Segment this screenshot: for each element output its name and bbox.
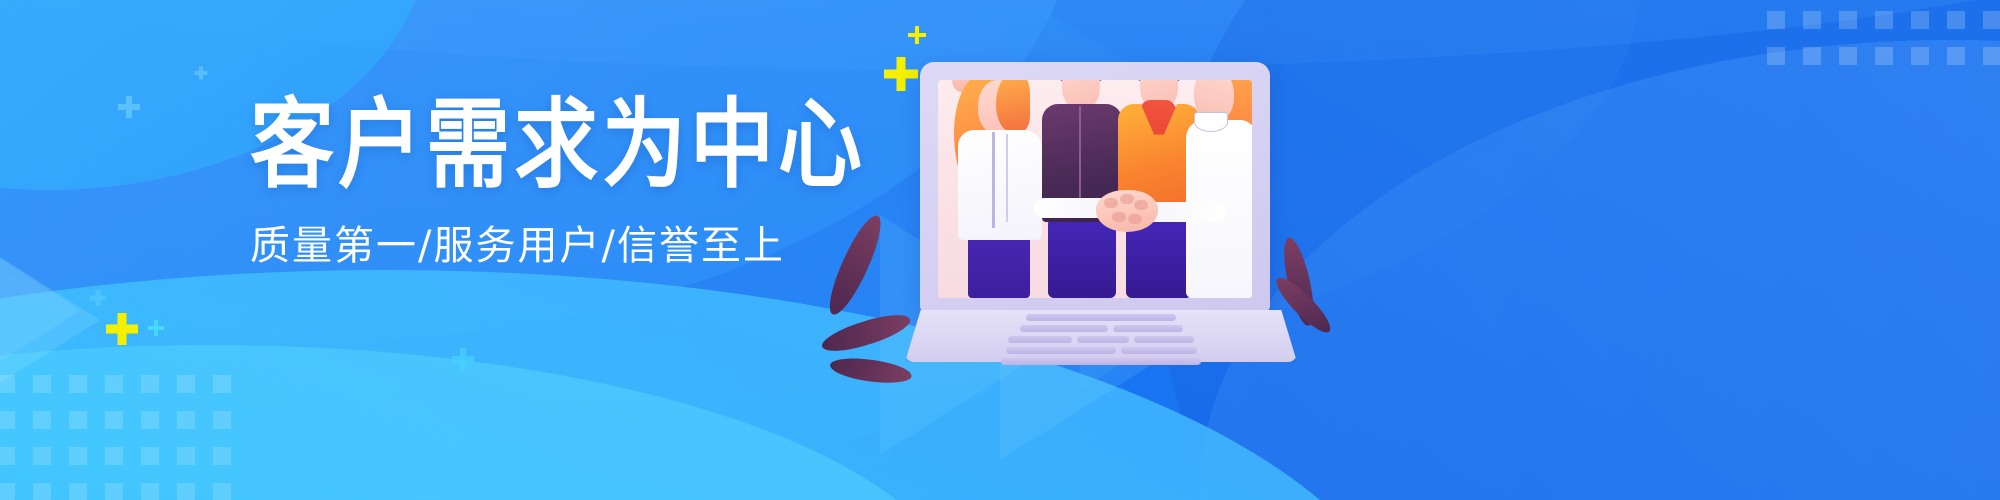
knuckle-4 [1112, 212, 1126, 222]
plus-sparkle-yellow-bottom-left [106, 313, 138, 345]
background-wave-bottom-inner [0, 345, 960, 500]
person-woman-white-blazer [952, 80, 1048, 298]
collar [1194, 112, 1228, 132]
laptop-screen [938, 80, 1252, 298]
person-man-dark-shirt [1038, 80, 1126, 298]
leaf-cluster-right [1277, 238, 1387, 368]
plus-sparkle-yellow-small [908, 26, 926, 44]
plus-sparkle-cyan-faint-upper [118, 96, 140, 118]
background-chevron-left-1 [0, 160, 80, 460]
plus-sparkle-cyan-above-laptop [90, 290, 106, 306]
leaf-3 [829, 356, 913, 385]
legs [1048, 218, 1116, 298]
banner-copy: 客户需求为中心 质量第一/服务用户/信誉至上 [250, 96, 870, 266]
knuckle-5 [1128, 214, 1142, 224]
background-top-strip [0, 0, 2000, 70]
laptop-illustration [905, 62, 1325, 362]
laptop-lid [920, 62, 1270, 312]
knuckle-1 [1104, 198, 1118, 208]
plus-sparkle-cyan-mid-lower [452, 348, 474, 370]
leaf-1 [823, 210, 888, 320]
knuckle-2 [1120, 194, 1134, 204]
plus-sparkle-cyan-tiny-upper [194, 66, 207, 79]
blazer [958, 130, 1042, 240]
joined-hands [1096, 190, 1158, 232]
person-woman-white-dress [1186, 80, 1252, 298]
banner-subtitle: 质量第一/服务用户/信誉至上 [250, 226, 870, 266]
laptop-keyboard [905, 314, 1297, 360]
hair-front [996, 80, 1030, 132]
page-title: 客户需求为中心 [250, 96, 870, 193]
promo-banner: 客户需求为中心 质量第一/服务用户/信誉至上 [0, 0, 2000, 500]
lapel-line-1 [992, 132, 995, 228]
dot-grid-top-right [1758, 0, 2000, 74]
dot-grid-bottom-left [0, 366, 240, 500]
background-chevron-left-2 [0, 200, 100, 440]
lapel-line-2 [1006, 134, 1008, 222]
knuckle-3 [1134, 200, 1148, 210]
plus-sparkle-cyan-small [148, 320, 164, 336]
